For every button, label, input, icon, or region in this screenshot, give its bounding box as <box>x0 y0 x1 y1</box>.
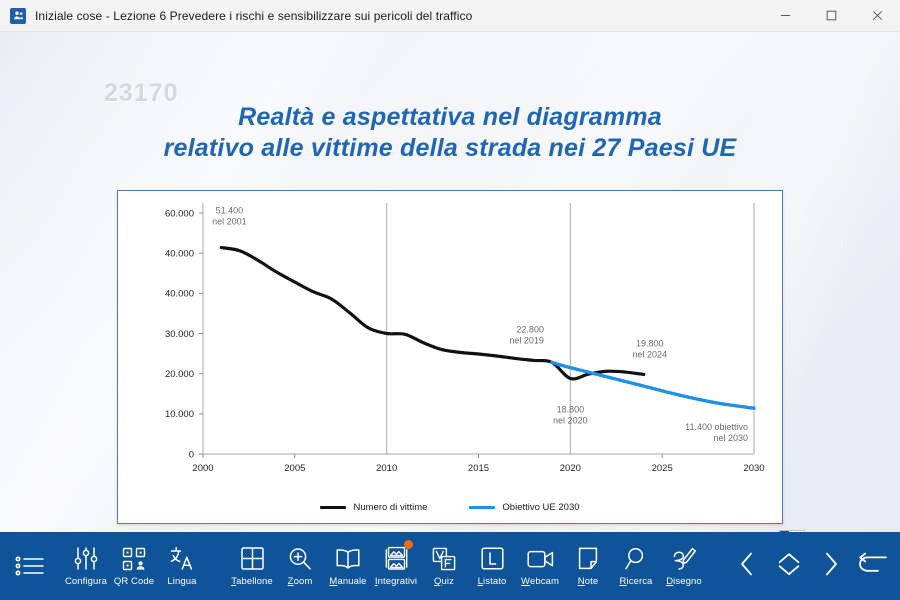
manuale-button[interactable]: Manuale <box>324 535 372 597</box>
qrcode-button[interactable]: QR Code <box>110 535 158 597</box>
window-title: Iniziale cose - Lezione 6 Prevedere i ri… <box>35 9 472 23</box>
grid-icon <box>241 545 264 572</box>
chart-series-vittime <box>221 248 643 379</box>
chart-y-tick-label: 40.000 <box>165 249 194 260</box>
letter-l-icon <box>481 545 504 572</box>
chart-plot-area: 010.00020.00030.00040.00040.00060.000200… <box>118 191 782 523</box>
configura-button[interactable]: Configura <box>62 535 110 597</box>
application-window: Iniziale cose - Lezione 6 Prevedere i ri… <box>0 0 900 600</box>
window-controls <box>762 0 900 32</box>
lingua-button[interactable]: Lingua <box>158 535 206 597</box>
menu-button[interactable] <box>6 535 54 597</box>
chart-annotation: 51.400nel 2001 <box>212 206 247 227</box>
chart-x-tick-label: 2000 <box>192 463 213 474</box>
title-line-2: relativo alle vittime della strada nei 2… <box>0 133 900 164</box>
note-label: Note <box>578 576 598 587</box>
chart-series-obiettivo <box>552 362 754 408</box>
zoom-label: Zoom <box>288 576 313 587</box>
chart-x-tick-label: 2025 <box>652 463 673 474</box>
manuale-label: Manuale <box>329 576 366 587</box>
maximize-button[interactable] <box>808 0 854 32</box>
disegno-button[interactable]: Disegno <box>660 535 708 597</box>
page-title: Realtà e aspettativa nel diagramma relat… <box>0 102 900 164</box>
sliders-icon <box>74 545 98 572</box>
legend-swatch-vittime <box>320 506 346 509</box>
true-false-icon <box>432 545 456 572</box>
title-bar: Iniziale cose - Lezione 6 Prevedere i ri… <box>0 0 900 32</box>
tabellone-label: Tabellone <box>231 576 273 587</box>
pen-draw-icon <box>672 545 697 572</box>
legend-label-vittime: Numero di vittime <box>353 502 427 513</box>
chart-y-tick-label: 40.000 <box>165 289 194 300</box>
slide-stage[interactable]: 23170 Realtà e aspettativa nel diagramma… <box>0 32 900 532</box>
qrcode-label: QR Code <box>114 576 154 587</box>
zoom-button[interactable]: Zoom <box>276 535 324 597</box>
images-icon <box>385 545 408 572</box>
lingua-label: Lingua <box>167 576 196 587</box>
chevron-updown-icon <box>776 551 802 582</box>
quiz-button[interactable]: Quiz <box>420 535 468 597</box>
people-icon <box>10 8 26 24</box>
chart-annotation: 18.800nel 2020 <box>553 404 588 425</box>
listato-button[interactable]: Listato <box>468 535 516 597</box>
chart-y-tick-label: 10.000 <box>165 409 194 420</box>
integrativi-badge <box>404 540 413 549</box>
legend-label-obiettivo: Obiettivo UE 2030 <box>502 502 579 513</box>
note-button[interactable]: Note <box>564 535 612 597</box>
close-button[interactable] <box>854 0 900 32</box>
chart-y-tick-label: 30.000 <box>165 329 194 340</box>
back-button[interactable] <box>852 535 894 597</box>
chart-legend: Numero di vittime Obiettivo UE 2030 <box>118 502 782 513</box>
translate-icon <box>169 545 195 572</box>
qr-code-icon <box>122 545 146 572</box>
chevron-left-icon <box>737 551 757 582</box>
zoom-in-icon <box>288 545 312 572</box>
ricerca-label: Ricerca <box>620 576 653 587</box>
bottom-toolbar: Configura QR Code <box>0 532 900 600</box>
return-arrow-icon <box>858 552 888 581</box>
chevron-right-icon <box>821 551 841 582</box>
integrativi-label: Integrativi <box>375 576 417 587</box>
disegno-label: Disegno <box>666 576 702 587</box>
chart-annotation: 22.800nel 2019 <box>509 324 544 345</box>
legend-item-vittime: Numero di vittime <box>320 502 427 513</box>
slide-updown-button[interactable] <box>768 535 810 597</box>
chart-x-tick-label: 2010 <box>376 463 397 474</box>
search-icon <box>624 545 648 572</box>
prev-slide-button[interactable] <box>726 535 768 597</box>
chart-annotation: 11.400 obiettivonel 2030 <box>685 422 748 443</box>
next-slide-button[interactable] <box>810 535 852 597</box>
chart-x-tick-label: 2020 <box>560 463 581 474</box>
chart-y-tick-label: 60.000 <box>165 208 194 219</box>
chart-x-tick-label: 2030 <box>743 463 764 474</box>
chart-x-tick-label: 2015 <box>468 463 489 474</box>
chart-x-tick-label: 2005 <box>284 463 305 474</box>
chart-card: 010.00020.00030.00040.00040.00060.000200… <box>117 190 783 524</box>
chart-y-tick-label: 20.000 <box>165 369 194 380</box>
configura-label: Configura <box>65 576 107 587</box>
title-line-1: Realtà e aspettativa nel diagramma <box>238 103 662 131</box>
ricerca-button[interactable]: Ricerca <box>612 535 660 597</box>
chart-svg: 010.00020.00030.00040.00040.00060.000200… <box>118 191 784 525</box>
tabellone-button[interactable]: Tabellone <box>228 535 276 597</box>
listato-label: Listato <box>478 576 507 587</box>
legend-item-obiettivo: Obiettivo UE 2030 <box>469 502 579 513</box>
book-icon <box>335 545 361 572</box>
note-icon <box>577 545 599 572</box>
legend-swatch-obiettivo <box>469 506 495 509</box>
list-menu-icon <box>15 549 45 583</box>
chart-annotation: 19.800nel 2024 <box>633 338 668 359</box>
video-camera-icon <box>527 545 554 572</box>
webcam-button[interactable]: Webcam <box>516 535 564 597</box>
integrativi-button[interactable]: Integrativi <box>372 535 420 597</box>
quiz-label: Quiz <box>434 576 454 587</box>
webcam-label: Webcam <box>521 576 559 587</box>
chart-y-tick-label: 0 <box>189 449 194 460</box>
minimize-button[interactable] <box>762 0 808 32</box>
